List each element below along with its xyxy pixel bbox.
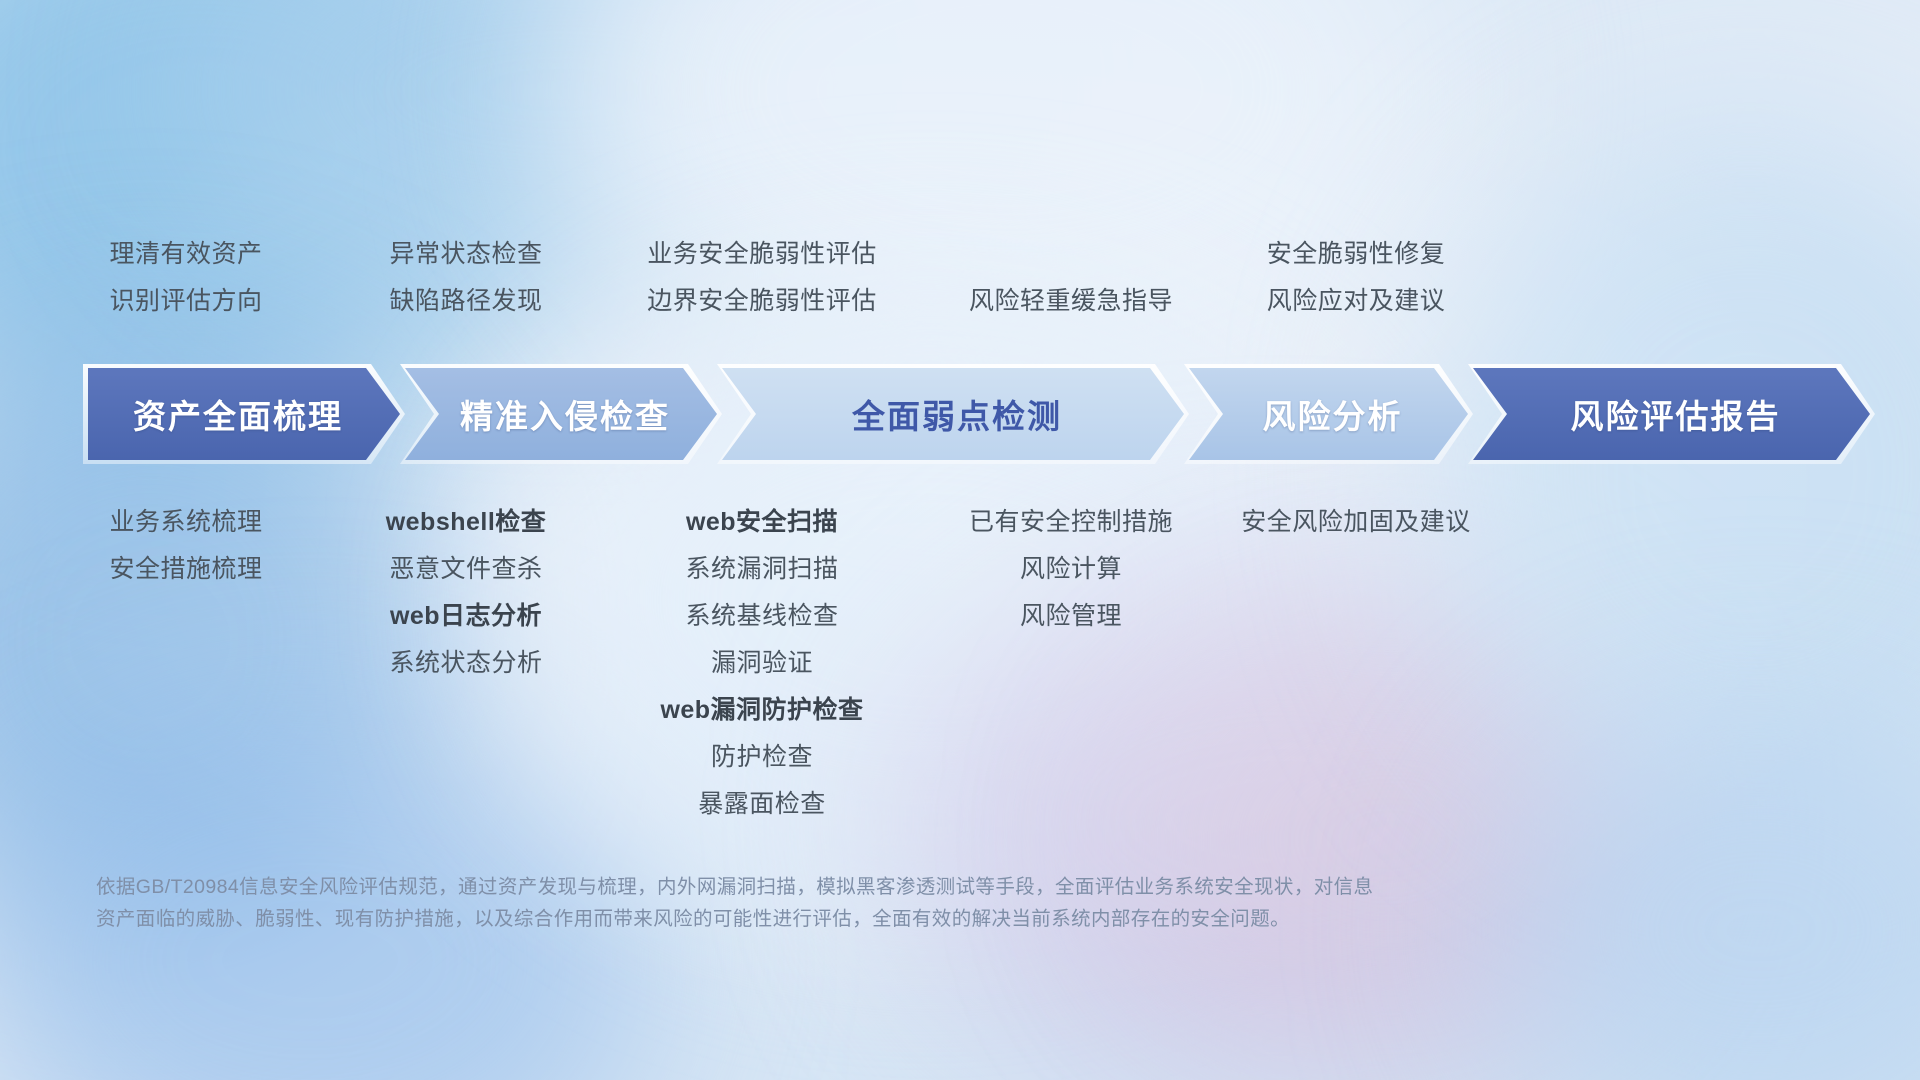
stage-title-intrusion-check: 精准入侵检查 (447, 390, 683, 438)
stage-bottom-items-asset-inventory: 业务系统梳理安全措施梳理 (109, 510, 262, 604)
stage-top-items-asset-inventory: 理清有效资产识别评估方向 (109, 242, 262, 336)
stage-item: 风险管理 (1020, 604, 1122, 629)
stage-bottom-items-weakness-detection: web安全扫描系统漏洞扫描系统基线检查漏洞验证web漏洞防护检查防护检查暴露面检… (660, 510, 863, 839)
footer-line-2: 资产面临的威胁、脆弱性、现有防护措施，以及综合作用而带来风险的可能性进行评估，全… (96, 904, 1596, 936)
footer-line-1: 依据GB/T20984信息安全风险评估规范，通过资产发现与梳理，内外网漏洞扫描，… (96, 872, 1596, 904)
stage-item: 安全脆弱性修复 (1267, 242, 1446, 267)
stage-item: 风险计算 (1020, 557, 1122, 582)
process-stage-risk-analysis[interactable]: 风险分析 (1189, 368, 1468, 460)
stage-title-risk-analysis: 风险分析 (1231, 390, 1434, 438)
process-infographic: 理清有效资产识别评估方向异常状态检查缺陷路径发现业务安全脆弱性评估边界安全脆弱性… (0, 0, 1920, 1080)
stage-item: 识别评估方向 (109, 289, 262, 314)
process-chevron-band: 资产全面梳理精准入侵检查全面弱点检测风险分析风险评估报告 (88, 368, 1850, 460)
stage-item: 安全措施梳理 (109, 557, 262, 582)
stage-item: 风险应对及建议 (1267, 289, 1446, 314)
stage-item: web日志分析 (390, 604, 542, 629)
process-stage-assessment-report[interactable]: 风险评估报告 (1473, 368, 1870, 460)
stage-item: 系统状态分析 (389, 651, 542, 676)
stage-item: web漏洞防护检查 (660, 698, 863, 723)
stage-top-items-weakness-detection: 业务安全脆弱性评估边界安全脆弱性评估 (647, 242, 877, 336)
stage-item: 风险轻重缓急指导 (969, 289, 1173, 314)
stage-item: 缺陷路径发现 (389, 289, 542, 314)
footer-description: 依据GB/T20984信息安全风险评估规范，通过资产发现与梳理，内外网漏洞扫描，… (96, 872, 1596, 935)
stage-item: 漏洞验证 (711, 651, 813, 676)
process-stage-intrusion-check[interactable]: 精准入侵检查 (405, 368, 717, 460)
stage-item: 暴露面检查 (698, 792, 826, 817)
stage-item: webshell检查 (386, 510, 547, 535)
stage-item: 理清有效资产 (109, 242, 262, 267)
stage-item: 防护检查 (711, 745, 813, 770)
stage-bottom-items-risk-analysis: 已有安全控制措施风险计算风险管理 (969, 510, 1173, 651)
stage-title-assessment-report: 风险评估报告 (1515, 390, 1836, 438)
stage-item: 业务安全脆弱性评估 (647, 242, 877, 267)
stage-item: 系统漏洞扫描 (685, 557, 838, 582)
stage-item: 边界安全脆弱性评估 (647, 289, 877, 314)
stage-item: 已有安全控制措施 (969, 510, 1173, 535)
process-stage-weakness-detection[interactable]: 全面弱点检测 (722, 368, 1184, 460)
stage-top-items-risk-analysis: 风险轻重缓急指导 (969, 289, 1173, 336)
stage-bottom-items-assessment-report: 安全风险加固及建议 (1241, 510, 1471, 557)
process-stage-asset-inventory[interactable]: 资产全面梳理 (88, 368, 400, 460)
stage-bottom-items-intrusion-check: webshell检查恶意文件查杀web日志分析系统状态分析 (386, 510, 547, 698)
stage-title-asset-inventory: 资产全面梳理 (110, 390, 366, 438)
stage-item: 安全风险加固及建议 (1241, 510, 1471, 535)
stage-item: 系统基线检查 (685, 604, 838, 629)
stage-item: 恶意文件查杀 (389, 557, 542, 582)
stage-top-label-row: 理清有效资产识别评估方向异常状态检查缺陷路径发现业务安全脆弱性评估边界安全脆弱性… (0, 196, 1920, 336)
stage-item: web安全扫描 (686, 510, 838, 535)
stage-top-items-intrusion-check: 异常状态检查缺陷路径发现 (389, 242, 542, 336)
stage-top-items-assessment-report: 安全脆弱性修复风险应对及建议 (1267, 242, 1446, 336)
stage-title-weakness-detection: 全面弱点检测 (764, 390, 1150, 438)
stage-item: 异常状态检查 (389, 242, 542, 267)
stage-item: 业务系统梳理 (109, 510, 262, 535)
